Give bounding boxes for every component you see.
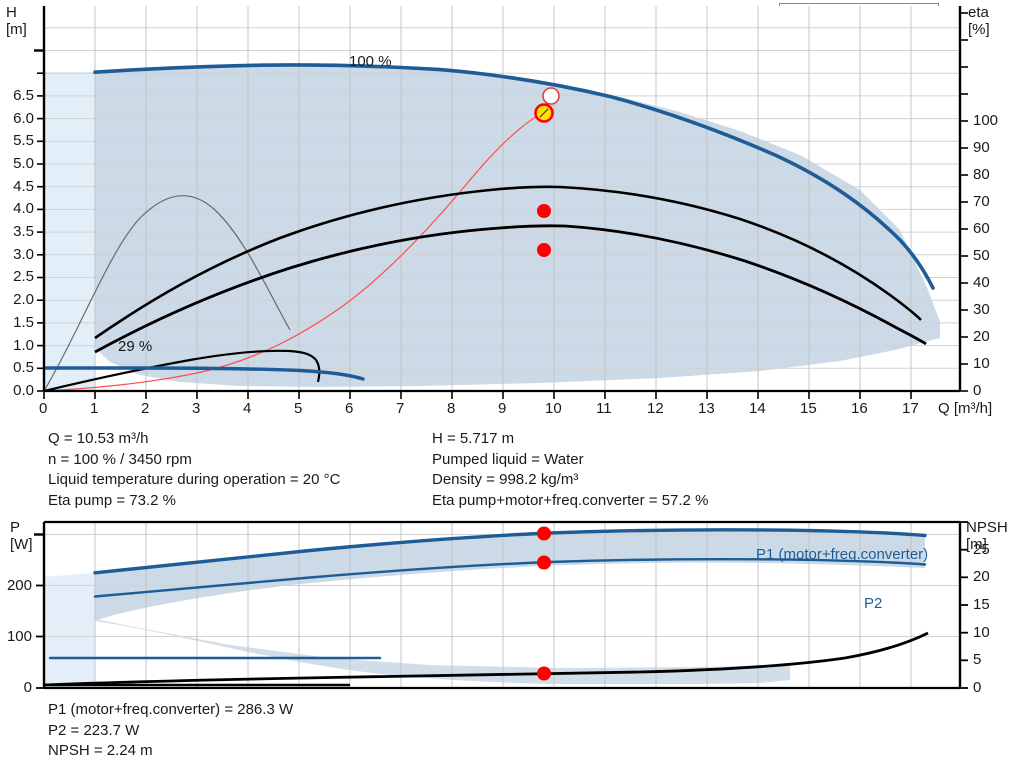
top-x-tick-15: 15: [800, 400, 817, 417]
top-y-tick-10: 5.0: [2, 155, 34, 172]
top-x-tick-10: 10: [545, 400, 562, 417]
top-y2-tick-5: 50: [973, 247, 990, 264]
top-y-tick-6: 3.0: [2, 246, 34, 263]
curve-label-100-percent: 100 %: [349, 53, 392, 70]
top-y-tick-5: 2.5: [2, 268, 34, 285]
top-y2-tick-0: 0: [973, 382, 981, 399]
duty-summary-left: Q = 10.53 m³/h n = 100 % / 3450 rpm Liqu…: [48, 429, 340, 511]
summary-line-npsh: NPSH = 2.24 m: [48, 741, 293, 762]
summary-line-n: n = 100 % / 3450 rpm: [48, 450, 340, 471]
top-y-tick-1: 0.5: [2, 359, 34, 376]
top-y2-tick-4: 40: [973, 274, 990, 291]
summary-line-q: Q = 10.53 m³/h: [48, 429, 340, 450]
top-y2-tick-6: 60: [973, 220, 990, 237]
top-y-tick-2: 1.0: [2, 337, 34, 354]
top-y2-tick-7: 70: [973, 193, 990, 210]
top-x-tick-8: 8: [447, 400, 455, 417]
top-y-tick-7: 3.5: [2, 223, 34, 240]
top-x-tick-2: 2: [141, 400, 149, 417]
summary-line-liquid: Pumped liquid = Water: [432, 450, 708, 471]
top-y-tick-12: 6.0: [2, 110, 34, 127]
bottom-y2-tick-3: 15: [973, 596, 990, 613]
bottom-y2-tick-0: 0: [973, 679, 981, 696]
top-x-tick-4: 4: [243, 400, 251, 417]
duty-summary-right: H = 5.717 m Pumped liquid = Water Densit…: [432, 429, 708, 511]
top-x-tick-12: 12: [647, 400, 664, 417]
summary-line-density: Density = 998.2 kg/m³: [432, 470, 708, 491]
top-x-tick-17: 17: [902, 400, 919, 417]
top-y2-tick-9: 90: [973, 139, 990, 156]
top-y-tick-9: 4.5: [2, 178, 34, 195]
top-y2-tick-8: 80: [973, 166, 990, 183]
top-x-tick-0: 0: [39, 400, 47, 417]
top-y-tick-11: 5.5: [2, 132, 34, 149]
bottom-y-tick-2: 200: [0, 577, 32, 594]
top-x-tick-11: 11: [596, 400, 612, 417]
power-summary: P1 (motor+freq.converter) = 286.3 W P2 =…: [48, 700, 293, 762]
top-x-tick-1: 1: [90, 400, 98, 417]
summary-line-h: H = 5.717 m: [432, 429, 708, 450]
top-x-tick-13: 13: [698, 400, 715, 417]
bottom-y2-tick-4: 20: [973, 568, 990, 585]
top-y2-tick-2: 20: [973, 328, 990, 345]
pump-curve-page: H [m] eta [%] TPE2 32-80, 3*460 V: [0, 0, 1024, 781]
top-x-tick-3: 3: [192, 400, 200, 417]
top-y-tick-3: 1.5: [2, 314, 34, 331]
summary-line-p1: P1 (motor+freq.converter) = 286.3 W: [48, 700, 293, 721]
top-y-tick-4: 2.0: [2, 291, 34, 308]
top-y-tick-0: 0.0: [2, 382, 34, 399]
top-x-tick-9: 9: [498, 400, 506, 417]
top-x-tick-14: 14: [749, 400, 766, 417]
bottom-y2-tick-2: 10: [973, 624, 990, 641]
curve-label-p2: P2: [864, 595, 882, 612]
curve-label-p1: P1 (motor+freq.converter): [756, 546, 928, 563]
top-y2-tick-1: 10: [973, 355, 990, 372]
summary-line-temperature: Liquid temperature during operation = 20…: [48, 470, 340, 491]
top-x-tick-7: 7: [396, 400, 404, 417]
bottom-y2-tick-5: 25: [973, 541, 990, 558]
top-y2-tick-10: 100: [973, 112, 998, 129]
summary-line-p2: P2 = 223.7 W: [48, 721, 293, 742]
summary-line-eta-total: Eta pump+motor+freq.converter = 57.2 %: [432, 491, 708, 512]
top-y-tick-13: 6.5: [2, 87, 34, 104]
top-y-tick-8: 4.0: [2, 200, 34, 217]
top-chart-plot: [0, 0, 1024, 420]
top-chart-x-axis-title: Q [m³/h]: [938, 400, 992, 417]
bottom-y2-tick-1: 5: [973, 651, 981, 668]
top-x-tick-16: 16: [851, 400, 868, 417]
top-x-tick-6: 6: [345, 400, 353, 417]
curve-label-29-percent: 29 %: [118, 338, 152, 355]
bottom-y-tick-1: 100: [0, 628, 32, 645]
top-x-tick-5: 5: [294, 400, 302, 417]
bottom-y-tick-0: 0: [0, 679, 32, 696]
summary-line-eta-pump: Eta pump = 73.2 %: [48, 491, 340, 512]
top-y2-tick-3: 30: [973, 301, 990, 318]
